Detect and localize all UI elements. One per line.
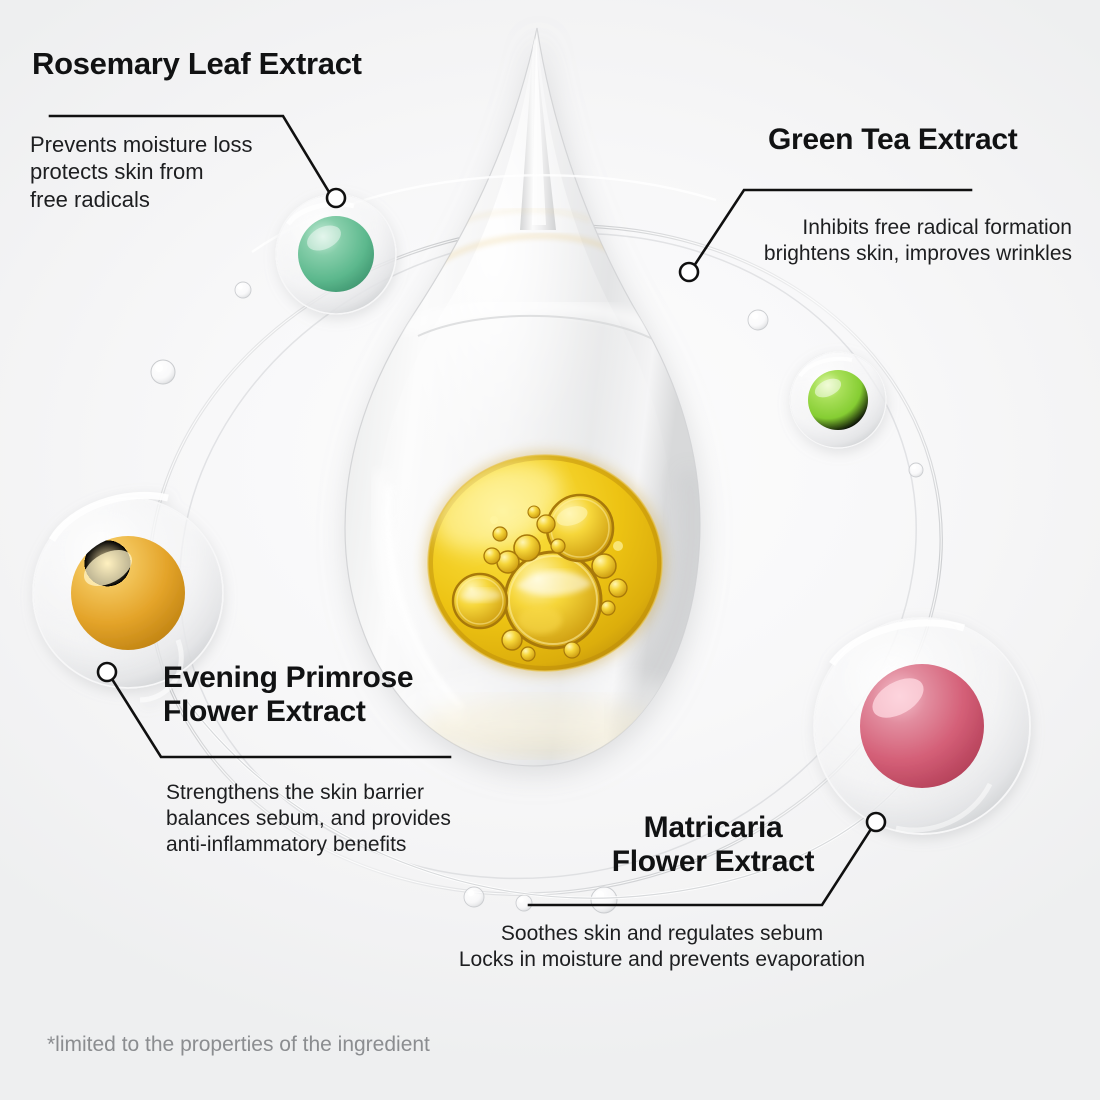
ring-bead xyxy=(748,310,768,330)
callout-body-rosemary: Prevents moisture loss protects skin fro… xyxy=(30,131,253,213)
oil-bubble-left xyxy=(453,574,507,628)
infographic-canvas: Rosemary Leaf Extract Prevents moisture … xyxy=(0,0,1100,1100)
footnote-text: *limited to the properties of the ingred… xyxy=(47,1033,430,1057)
ring-bead xyxy=(464,887,484,907)
sphere-greentea[interactable] xyxy=(790,352,886,448)
callout-title-primrose: Evening Primrose Flower Extract xyxy=(163,661,413,729)
callout-body-matricaria: Soothes skin and regulates sebum Locks i… xyxy=(352,921,972,973)
callout-body-greentea: Inhibits free radical formation brighten… xyxy=(742,215,1072,267)
ring-bead xyxy=(151,360,175,384)
callout-title-greentea: Green Tea Extract xyxy=(768,123,1017,157)
callout-title-matricaria: Matricaria Flower Extract xyxy=(553,811,873,879)
leader-marker-greentea xyxy=(680,263,698,281)
sphere-rosemary[interactable] xyxy=(276,194,396,314)
callout-body-primrose: Strengthens the skin barrier balances se… xyxy=(166,780,451,858)
ring-bead xyxy=(235,282,251,298)
callout-title-rosemary: Rosemary Leaf Extract xyxy=(32,46,362,81)
ring-bead xyxy=(516,895,532,911)
sphere-matricaria[interactable] xyxy=(814,618,1030,834)
leader-marker-rosemary xyxy=(327,189,345,207)
leader-marker-primrose xyxy=(98,663,116,681)
ring-bead xyxy=(909,463,923,477)
ring-bead xyxy=(591,887,617,913)
